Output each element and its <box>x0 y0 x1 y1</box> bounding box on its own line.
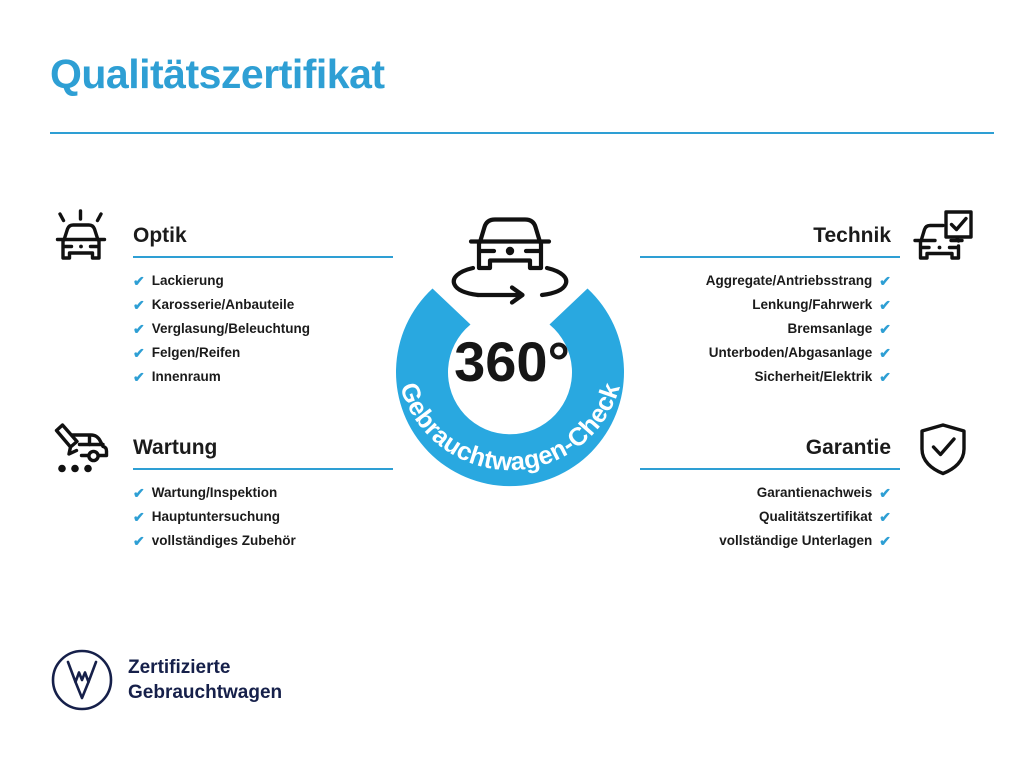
check-icon: ✔ <box>879 322 891 336</box>
page-title: Qualitätszertifikat <box>50 52 385 97</box>
list-item: Lenkung/Fahrwerk ✔ <box>631 296 891 314</box>
list-item-label: Bremsanlage <box>787 320 872 338</box>
list-item: Sicherheit/Elektrik ✔ <box>631 368 891 386</box>
section-items-garantie: Garantienachweis ✔ Qualitätszertifikat ✔… <box>631 484 891 550</box>
section-garantie: Garantie Garantienachweis ✔ Qualitätszer… <box>631 428 976 550</box>
vw-logo <box>50 648 114 712</box>
check-icon: ✔ <box>133 510 145 524</box>
list-item-label: Lackierung <box>152 272 224 290</box>
list-item-label: Felgen/Reifen <box>152 344 241 362</box>
check-icon: ✔ <box>133 370 145 384</box>
footer-logo: Zertifizierte Gebrauchtwagen <box>50 648 282 712</box>
check-icon: ✔ <box>879 510 891 524</box>
badge-360-gebrauchtwagen-check: Gebrauchtwagen-Check 360° <box>372 196 648 488</box>
list-item-label: vollständiges Zubehör <box>152 532 296 550</box>
footer-line-2: Gebrauchtwagen <box>128 682 282 703</box>
badge-center-label: 360° <box>454 330 570 393</box>
list-item: Unterboden/Abgasanlage ✔ <box>631 344 891 362</box>
list-item-label: Innenraum <box>152 368 221 386</box>
certificate-page: Qualitätszertifikat Optik <box>0 0 1024 768</box>
list-item-label: vollständige Unterlagen <box>719 532 872 550</box>
section-optik: Optik ✔ Lackierung ✔ Karosserie/Anbautei… <box>48 216 393 386</box>
check-icon: ✔ <box>879 298 891 312</box>
section-title-optik: Optik <box>133 224 187 248</box>
section-items-technik: Aggregate/Antriebsstrang ✔ Lenkung/Fahrw… <box>631 272 891 386</box>
check-icon: ✔ <box>133 346 145 360</box>
section-divider-optik <box>133 256 393 258</box>
list-item: ✔ Verglasung/Beleuchtung <box>133 320 393 338</box>
section-divider-wartung <box>133 468 393 470</box>
list-item: ✔ vollständiges Zubehör <box>133 532 393 550</box>
list-item: Bremsanlage ✔ <box>631 320 891 338</box>
section-divider-technik <box>640 256 900 258</box>
list-item: ✔ Felgen/Reifen <box>133 344 393 362</box>
list-item: ✔ Lackierung <box>133 272 393 290</box>
section-technik: Technik Aggregate/Antriebsstrang ✔ Lenku… <box>631 216 976 386</box>
section-items-wartung: ✔ Wartung/Inspektion ✔ Hauptuntersuchung… <box>133 484 393 550</box>
car-rotation-icon <box>454 220 566 303</box>
list-item-label: Verglasung/Beleuchtung <box>152 320 310 338</box>
section-title-technik: Technik <box>813 224 891 248</box>
footer-line-1: Zertifizierte <box>128 657 230 678</box>
list-item-label: Aggregate/Antriebsstrang <box>706 272 873 290</box>
list-item-label: Karosserie/Anbauteile <box>152 296 295 314</box>
list-item-label: Hauptuntersuchung <box>152 508 280 526</box>
check-icon: ✔ <box>879 534 891 548</box>
list-item-label: Garantienachweis <box>757 484 873 502</box>
list-item-label: Qualitätszertifikat <box>759 508 872 526</box>
check-icon: ✔ <box>879 274 891 288</box>
list-item: vollständige Unterlagen ✔ <box>631 532 891 550</box>
list-item: ✔ Wartung/Inspektion <box>133 484 393 502</box>
check-icon: ✔ <box>133 298 145 312</box>
list-item-label: Unterboden/Abgasanlage <box>709 344 873 362</box>
section-items-optik: ✔ Lackierung ✔ Karosserie/Anbauteile ✔ V… <box>133 272 393 386</box>
list-item: Qualitätszertifikat ✔ <box>631 508 891 526</box>
section-divider-garantie <box>640 468 900 470</box>
section-wartung: Wartung ✔ Wartung/Inspektion ✔ Hauptunte… <box>48 428 393 550</box>
check-icon: ✔ <box>133 274 145 288</box>
footer-logo-text: Zertifizierte Gebrauchtwagen <box>128 655 282 705</box>
list-item-label: Wartung/Inspektion <box>152 484 278 502</box>
section-title-wartung: Wartung <box>133 436 217 460</box>
list-item: Aggregate/Antriebsstrang ✔ <box>631 272 891 290</box>
title-divider <box>50 132 994 134</box>
list-item: ✔ Karosserie/Anbauteile <box>133 296 393 314</box>
list-item: Garantienachweis ✔ <box>631 484 891 502</box>
check-icon: ✔ <box>133 486 145 500</box>
check-icon: ✔ <box>133 322 145 336</box>
check-icon: ✔ <box>879 486 891 500</box>
check-icon: ✔ <box>133 534 145 548</box>
check-icon: ✔ <box>879 370 891 384</box>
check-icon: ✔ <box>879 346 891 360</box>
list-item-label: Lenkung/Fahrwerk <box>752 296 872 314</box>
list-item-label: Sicherheit/Elektrik <box>754 368 872 386</box>
section-title-garantie: Garantie <box>806 436 891 460</box>
list-item: ✔ Innenraum <box>133 368 393 386</box>
list-item: ✔ Hauptuntersuchung <box>133 508 393 526</box>
